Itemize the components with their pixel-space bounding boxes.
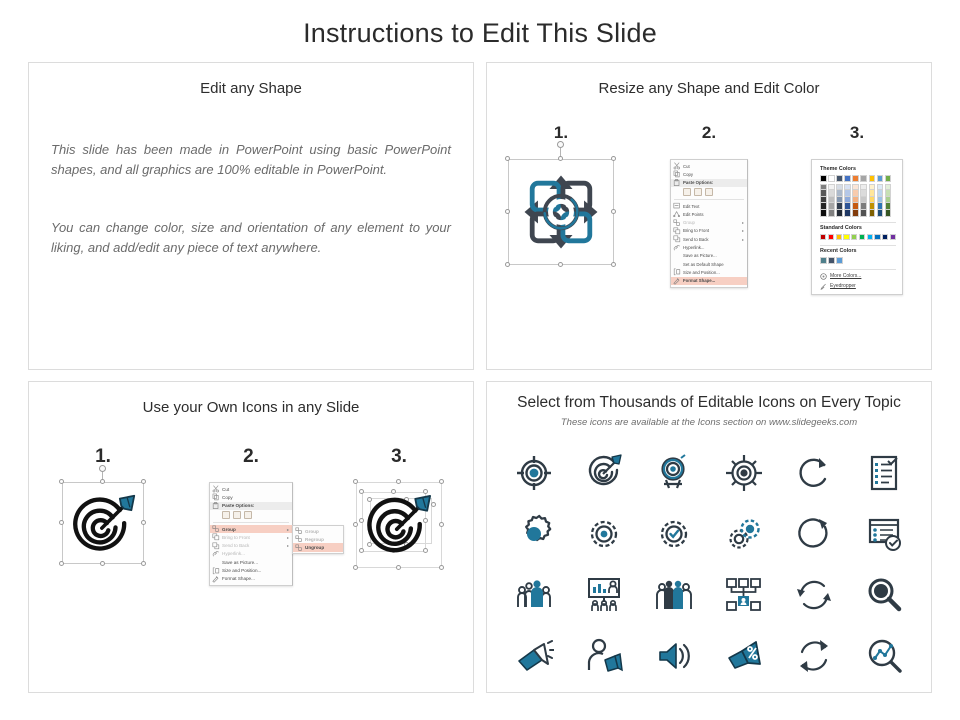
group-submenu[interactable]: GroupRegroupUngroup: [292, 525, 344, 554]
step-1-resize: 1.: [491, 123, 631, 309]
dartboard-arrow-icon: [68, 490, 140, 562]
menu-item-hyperlink[interactable]: Hyperlink...: [671, 243, 747, 251]
scissors-icon: [212, 486, 220, 493]
icon-cell[interactable]: [654, 514, 694, 554]
menu-item-label: Hyperlink...: [683, 245, 744, 250]
menu-item-size-and-position[interactable]: Size and Position...: [671, 268, 747, 276]
tint-swatch-0-3[interactable]: [820, 203, 827, 210]
icon-cell[interactable]: [654, 636, 694, 676]
recent-swatch-0[interactable]: [820, 257, 827, 264]
submenu-item-ungroup[interactable]: Ungroup: [293, 543, 343, 551]
icon-cell[interactable]: [864, 453, 904, 493]
paste-icon: [212, 502, 220, 509]
submenu-item-regroup[interactable]: Regroup: [293, 535, 343, 543]
menu-item-label: Cut: [683, 164, 744, 169]
panel-resize-shape: Resize any Shape and Edit Color 1.: [486, 62, 932, 370]
tint-swatch-5-1[interactable]: [860, 190, 867, 197]
standard-swatch-9[interactable]: [890, 234, 896, 241]
tint-column-0: [820, 184, 827, 217]
step-3-icons: 3.: [329, 446, 469, 632]
org-chart-icon: [724, 575, 764, 615]
menu-item-save-as-picture[interactable]: Save as Picture...: [671, 252, 747, 260]
paste-keep-formatting-icon[interactable]: [683, 188, 691, 196]
slide-canvas: Instructions to Edit This Slide Edit any…: [0, 0, 960, 720]
menu-item-label: Save as Picture...: [222, 560, 289, 565]
tint-swatch-2-2[interactable]: [836, 197, 843, 204]
handle-se[interactable]: [611, 262, 616, 267]
theme-colors-row[interactable]: [820, 175, 896, 182]
icon-cell[interactable]: [584, 514, 624, 554]
edit-shape-body: This slide has been made in PowerPoint u…: [29, 140, 473, 259]
shape-context-menu[interactable]: CutCopyPaste Options:Edit TextEdit Point…: [670, 159, 748, 288]
dartboard-arrow-icon: [584, 453, 624, 493]
menu-item-paste-options[interactable]: Paste Options:: [671, 179, 747, 187]
icon-cell[interactable]: [584, 453, 624, 493]
icon-cell[interactable]: [864, 636, 904, 676]
tint-swatch-6-4[interactable]: [869, 210, 876, 217]
divider-1: [820, 222, 896, 223]
icon-cell[interactable]: [514, 453, 554, 493]
format-shape-icon: [212, 575, 220, 582]
tint-swatch-4-1[interactable]: [852, 190, 859, 197]
own-icons-steps-row: 1.: [29, 446, 473, 632]
step-2-icons-art: CutCopyPaste Options:Group▸GroupRegroupU…: [181, 482, 321, 632]
more-colors-label: More Colors...: [830, 273, 861, 279]
send-back-icon: [212, 542, 220, 549]
menu-item-format-shape[interactable]: Format Shape...: [210, 575, 292, 583]
crosshair-dot-icon: [724, 453, 764, 493]
rotate-handle-icon[interactable]: [557, 141, 564, 148]
paste-text-only-icon[interactable]: [244, 511, 252, 519]
tint-swatch-4-0[interactable]: [852, 184, 859, 191]
tint-column-4: [852, 184, 859, 217]
magnifier-icon: [864, 575, 904, 615]
scissors-icon: [673, 163, 681, 170]
icon-cell[interactable]: [794, 453, 834, 493]
speaker-icon: [654, 636, 694, 676]
magnifier-chart-icon: [864, 636, 904, 676]
group-context-menu[interactable]: CutCopyPaste Options:Group▸GroupRegroupU…: [209, 482, 293, 586]
icon-cell[interactable]: [584, 575, 624, 615]
chevron-right-icon: ▸: [742, 228, 744, 233]
handle-ne[interactable]: [611, 156, 616, 161]
theme-swatch-6[interactable]: [869, 175, 876, 182]
recent-colors-label: Recent Colors: [820, 248, 896, 254]
paste-keep-formatting-icon[interactable]: [222, 511, 230, 519]
standard-swatch-0[interactable]: [820, 234, 826, 241]
size-position-icon: [212, 567, 220, 574]
menu-item-label: Copy: [683, 172, 744, 177]
step-number-1: 1.: [491, 123, 631, 143]
icon-cell[interactable]: [514, 514, 554, 554]
theme-swatch-0[interactable]: [820, 175, 827, 182]
icon-cell[interactable]: [794, 636, 834, 676]
tint-swatch-1-3[interactable]: [828, 203, 835, 210]
chevron-right-icon: ▸: [742, 237, 744, 242]
panel-title-icon-library: Select from Thousands of Editable Icons …: [487, 394, 931, 412]
refresh-arrow-icon: [794, 453, 834, 493]
icon-cell[interactable]: [794, 575, 834, 615]
panel-title-resize-shape: Resize any Shape and Edit Color: [487, 80, 931, 97]
tint-swatch-3-3[interactable]: [844, 203, 851, 210]
theme-tints-grid[interactable]: [820, 184, 896, 217]
no-icon: [673, 261, 681, 268]
step-2-art: CutCopyPaste Options:Edit TextEdit Point…: [639, 159, 779, 309]
menu-item-cut[interactable]: Cut: [671, 162, 747, 170]
tint-swatch-4-3[interactable]: [852, 203, 859, 210]
tint-swatch-7-4[interactable]: [877, 210, 884, 217]
divider-2: [820, 245, 896, 246]
menu-item-group[interactable]: Group▸: [671, 218, 747, 226]
step-number-3: 3.: [787, 123, 927, 143]
gear-solid-icon: [514, 514, 554, 554]
submenu-item-label: Regroup: [305, 537, 340, 542]
handle-s[interactable]: [558, 262, 563, 267]
target-stand-icon: [654, 453, 694, 493]
divider-3: [820, 269, 896, 270]
hyperlink-icon: [212, 550, 220, 557]
standard-swatch-1[interactable]: [828, 234, 834, 241]
step-3-icons-art: [329, 482, 469, 632]
tint-swatch-0-0[interactable]: [820, 184, 827, 191]
icon-cell[interactable]: [864, 514, 904, 554]
shape-selection-box[interactable]: [508, 159, 614, 265]
tint-swatch-1-4[interactable]: [828, 210, 835, 217]
tint-swatch-5-2[interactable]: [860, 197, 867, 204]
person-megaphone-icon: [584, 636, 624, 676]
recent-swatch-2[interactable]: [836, 257, 843, 264]
paragraph-2: You can change color, size and orientati…: [51, 218, 451, 258]
paste-option-buttons[interactable]: [210, 510, 292, 521]
eyedropper-label: Eyedropper: [830, 283, 856, 289]
paste-icon: [673, 179, 681, 186]
standard-swatch-3[interactable]: [843, 234, 849, 241]
tint-swatch-0-4[interactable]: [820, 210, 827, 217]
chevron-right-icon: ▸: [742, 220, 744, 225]
group-icon: [295, 536, 303, 543]
tint-column-1: [828, 184, 835, 217]
handle-e[interactable]: [611, 209, 616, 214]
menu-item-label: Paste Options:: [222, 503, 289, 508]
step-number-2: 2.: [639, 123, 779, 143]
dartboard-arrow-ungrouped-icon: [362, 490, 436, 564]
group-icon: [673, 219, 681, 226]
tint-column-7: [877, 184, 884, 217]
icon-cell[interactable]: [724, 453, 764, 493]
menu-item-label: Format Shape...: [222, 576, 289, 581]
tint-swatch-7-0[interactable]: [877, 184, 884, 191]
tint-swatch-0-1[interactable]: [820, 190, 827, 197]
tint-swatch-3-1[interactable]: [844, 190, 851, 197]
tint-swatch-3-4[interactable]: [844, 210, 851, 217]
theme-colors-label: Theme Colors: [820, 166, 896, 172]
menu-item-label: Size and Position...: [222, 568, 289, 573]
submenu-item-label: Group: [305, 529, 340, 534]
icon-cell[interactable]: [654, 575, 694, 615]
menu-item-label: Save as Picture...: [683, 253, 744, 258]
standard-swatch-5[interactable]: [859, 234, 865, 241]
icon-gallery-grid: [487, 442, 931, 686]
step-2-resize: 2. CutCopyPaste Options:Edit TextEdit Po…: [639, 123, 779, 309]
tint-swatch-7-2[interactable]: [877, 197, 884, 204]
circular-arrow-icon: [794, 514, 834, 554]
copy-icon: [212, 494, 220, 501]
hyperlink-icon: [673, 244, 681, 251]
chevron-right-icon: ▸: [287, 527, 289, 532]
gear-outline-icon: [584, 514, 624, 554]
menu-item-copy[interactable]: Copy: [210, 493, 292, 501]
tint-swatch-2-1[interactable]: [836, 190, 843, 197]
resize-steps-row: 1.: [487, 123, 931, 309]
icon-cell[interactable]: [514, 636, 554, 676]
gear-check-icon: [654, 514, 694, 554]
standard-swatch-6[interactable]: [867, 234, 873, 241]
theme-swatch-2[interactable]: [836, 175, 843, 182]
tint-swatch-5-3[interactable]: [860, 203, 867, 210]
standard-swatch-4[interactable]: [851, 234, 857, 241]
tint-column-6: [869, 184, 876, 217]
chevron-right-icon: ▸: [287, 535, 289, 540]
menu-item-label: Group: [683, 220, 742, 225]
tint-swatch-8-3[interactable]: [885, 203, 892, 210]
submenu-item-label: Ungroup: [305, 545, 340, 550]
icon-cell[interactable]: [584, 636, 624, 676]
menu-item-save-as-picture[interactable]: Save as Picture...: [210, 558, 292, 566]
step-2-icons: 2. CutCopyPaste Options:Group▸GroupRegro…: [181, 446, 321, 632]
menu-item-label: Group: [222, 527, 287, 532]
step-1-art: [491, 159, 631, 309]
recent-colors-row[interactable]: [820, 257, 896, 264]
menu-item-label: Send to Back: [683, 237, 742, 242]
standard-colors-row[interactable]: [820, 234, 896, 241]
menu-item-edit-text[interactable]: Edit Text: [671, 202, 747, 210]
theme-swatch-4[interactable]: [852, 175, 859, 182]
step-3-art: Theme Colors Standard Colors Recent Colo…: [787, 159, 927, 309]
tint-swatch-8-0[interactable]: [885, 184, 892, 191]
double-gear-icon: [724, 514, 764, 554]
handle-w[interactable]: [505, 209, 510, 214]
menu-item-label: Set as Default Shape: [683, 262, 744, 267]
tint-swatch-3-0[interactable]: [844, 184, 851, 191]
tint-swatch-1-2[interactable]: [828, 197, 835, 204]
menu-item-bring-to-front[interactable]: Bring to Front▸: [671, 227, 747, 235]
presentation-audience-icon: [584, 575, 624, 615]
tint-swatch-7-1[interactable]: [877, 190, 884, 197]
rotate-handle-dartboard-icon[interactable]: [99, 465, 106, 472]
tint-swatch-8-1[interactable]: [885, 190, 892, 197]
tint-swatch-6-0[interactable]: [869, 184, 876, 191]
tint-swatch-7-3[interactable]: [877, 203, 884, 210]
tint-swatch-2-4[interactable]: [836, 210, 843, 217]
icon-cell[interactable]: [794, 514, 834, 554]
standard-swatch-8[interactable]: [882, 234, 888, 241]
menu-item-size-and-position[interactable]: Size and Position...: [210, 566, 292, 574]
icon-cell[interactable]: [654, 453, 694, 493]
icon-cell[interactable]: [724, 575, 764, 615]
refresh-cycle-icon: [794, 636, 834, 676]
menu-item-label: Send to Back: [222, 543, 287, 548]
tint-swatch-6-3[interactable]: [869, 203, 876, 210]
format-shape-icon: [673, 277, 681, 284]
megaphone-icon: [514, 636, 554, 676]
tint-swatch-8-4[interactable]: [885, 210, 892, 217]
submenu-item-group[interactable]: Group: [293, 527, 343, 535]
paragraph-1: This slide has been made in PowerPoint u…: [51, 140, 451, 180]
menu-item-label: Edit Text: [683, 204, 744, 209]
icon-cell[interactable]: [724, 514, 764, 554]
menu-item-label: Copy: [222, 495, 289, 500]
icon-cell[interactable]: [514, 575, 554, 615]
bring-front-icon: [212, 534, 220, 541]
menu-item-format-shape[interactable]: Format Shape...: [671, 277, 747, 285]
tint-swatch-6-1[interactable]: [869, 190, 876, 197]
menu-item-edit-points[interactable]: Edit Points: [671, 210, 747, 218]
four-quadrant-shape-icon: [513, 164, 609, 260]
dartboard-selection-box[interactable]: [62, 482, 144, 564]
menu-item-label: Bring to Front: [222, 535, 287, 540]
paste-text-only-icon[interactable]: [705, 188, 713, 196]
theme-swatch-3[interactable]: [844, 175, 851, 182]
tint-swatch-0-2[interactable]: [820, 197, 827, 204]
standard-swatch-7[interactable]: [874, 234, 880, 241]
step-number-3-icons: 3.: [329, 446, 469, 468]
step-1-icons-art: [33, 482, 173, 632]
menu-item-copy[interactable]: Copy: [671, 170, 747, 178]
theme-swatch-5[interactable]: [860, 175, 867, 182]
tint-swatch-3-2[interactable]: [844, 197, 851, 204]
menu-item-hyperlink[interactable]: Hyperlink...: [210, 550, 292, 558]
checklist-document-icon: [864, 453, 904, 493]
tint-column-5: [860, 184, 867, 217]
tint-swatch-5-0[interactable]: [860, 184, 867, 191]
no-icon: [212, 559, 220, 566]
size-position-icon: [673, 269, 681, 276]
panel-title-own-icons: Use your Own Icons in any Slide: [29, 399, 473, 416]
ungrouped-dartboard-box[interactable]: [356, 482, 442, 568]
panel-title-edit-shape: Edit any Shape: [29, 80, 473, 97]
color-picker-panel[interactable]: Theme Colors Standard Colors Recent Colo…: [811, 159, 903, 295]
bring-front-icon: [673, 227, 681, 234]
menu-item-label: Hyperlink...: [222, 551, 289, 556]
tint-swatch-1-1[interactable]: [828, 190, 835, 197]
menu-item-set-as-default-shape[interactable]: Set as Default Shape: [671, 260, 747, 268]
menu-item-send-to-back[interactable]: Send to Back▸: [210, 541, 292, 549]
tint-swatch-2-0[interactable]: [836, 184, 843, 191]
standard-swatch-2[interactable]: [836, 234, 842, 241]
menu-separator: [213, 522, 289, 523]
page-title: Instructions to Edit This Slide: [0, 18, 960, 49]
standard-colors-label: Standard Colors: [820, 225, 896, 231]
paste-picture-icon[interactable]: [694, 188, 702, 196]
group-icon: [295, 528, 303, 535]
panel-own-icons: Use your Own Icons in any Slide 1.: [28, 381, 474, 693]
menu-item-label: Edit Points: [683, 212, 744, 217]
eyedropper-button[interactable]: Eyedropper: [820, 283, 896, 290]
team-group-icon: [514, 575, 554, 615]
theme-swatch-8[interactable]: [885, 175, 892, 182]
target-crosshair-icon: [514, 453, 554, 493]
tint-column-3: [844, 184, 851, 217]
palette-icon: [820, 273, 827, 280]
handle-nw[interactable]: [505, 156, 510, 161]
step-1-icons: 1.: [33, 446, 173, 632]
icon-cell[interactable]: [864, 575, 904, 615]
theme-swatch-7[interactable]: [877, 175, 884, 182]
menu-item-label: Bring to Front: [683, 228, 742, 233]
paste-option-buttons[interactable]: [671, 187, 747, 198]
group-icon: [212, 526, 220, 533]
icon-cell[interactable]: [724, 636, 764, 676]
tint-swatch-6-2[interactable]: [869, 197, 876, 204]
tint-swatch-5-4[interactable]: [860, 210, 867, 217]
edit-text-icon: [673, 203, 681, 210]
paste-picture-icon[interactable]: [233, 511, 241, 519]
step-3-resize: 3. Theme Colors Standard Colors Recent C…: [787, 123, 927, 309]
group-icon: [295, 544, 303, 551]
menu-separator: [674, 199, 744, 200]
menu-item-send-to-back[interactable]: Send to Back▸: [671, 235, 747, 243]
copy-icon: [673, 171, 681, 178]
menu-item-cut[interactable]: Cut: [210, 485, 292, 493]
menu-item-label: Paste Options:: [683, 180, 744, 185]
handle-n[interactable]: [558, 156, 563, 161]
recent-swatch-1[interactable]: [828, 257, 835, 264]
panel-icon-library: Select from Thousands of Editable Icons …: [486, 381, 932, 693]
menu-item-group[interactable]: Group▸GroupRegroupUngroup: [210, 525, 292, 533]
menu-item-paste-options[interactable]: Paste Options:: [210, 502, 292, 510]
eyedropper-icon: [820, 283, 827, 290]
icon-library-subtitle: These icons are available at the Icons s…: [487, 417, 931, 428]
panel-edit-any-shape: Edit any Shape This slide has been made …: [28, 62, 474, 370]
cycle-arrows-icon: [794, 575, 834, 615]
no-icon: [673, 252, 681, 259]
menu-item-label: Format Shape...: [683, 278, 744, 283]
edit-points-icon: [673, 211, 681, 218]
menu-item-label: Cut: [222, 487, 289, 492]
tint-column-8: [885, 184, 892, 217]
tint-swatch-4-4[interactable]: [852, 210, 859, 217]
people-three-icon: [654, 575, 694, 615]
theme-swatch-1[interactable]: [828, 175, 835, 182]
tint-swatch-4-2[interactable]: [852, 197, 859, 204]
tint-swatch-8-2[interactable]: [885, 197, 892, 204]
menu-item-label: Size and Position...: [683, 270, 744, 275]
step-number-2-icons: 2.: [181, 446, 321, 468]
tint-column-2: [836, 184, 843, 217]
send-back-icon: [673, 236, 681, 243]
megaphone-percent-icon: [724, 636, 764, 676]
tint-swatch-2-3[interactable]: [836, 203, 843, 210]
more-colors-button[interactable]: More Colors...: [820, 273, 896, 280]
tint-swatch-1-0[interactable]: [828, 184, 835, 191]
handle-sw[interactable]: [505, 262, 510, 267]
checklist-approved-icon: [864, 514, 904, 554]
chevron-right-icon: ▸: [287, 543, 289, 548]
menu-item-bring-to-front[interactable]: Bring to Front▸: [210, 533, 292, 541]
